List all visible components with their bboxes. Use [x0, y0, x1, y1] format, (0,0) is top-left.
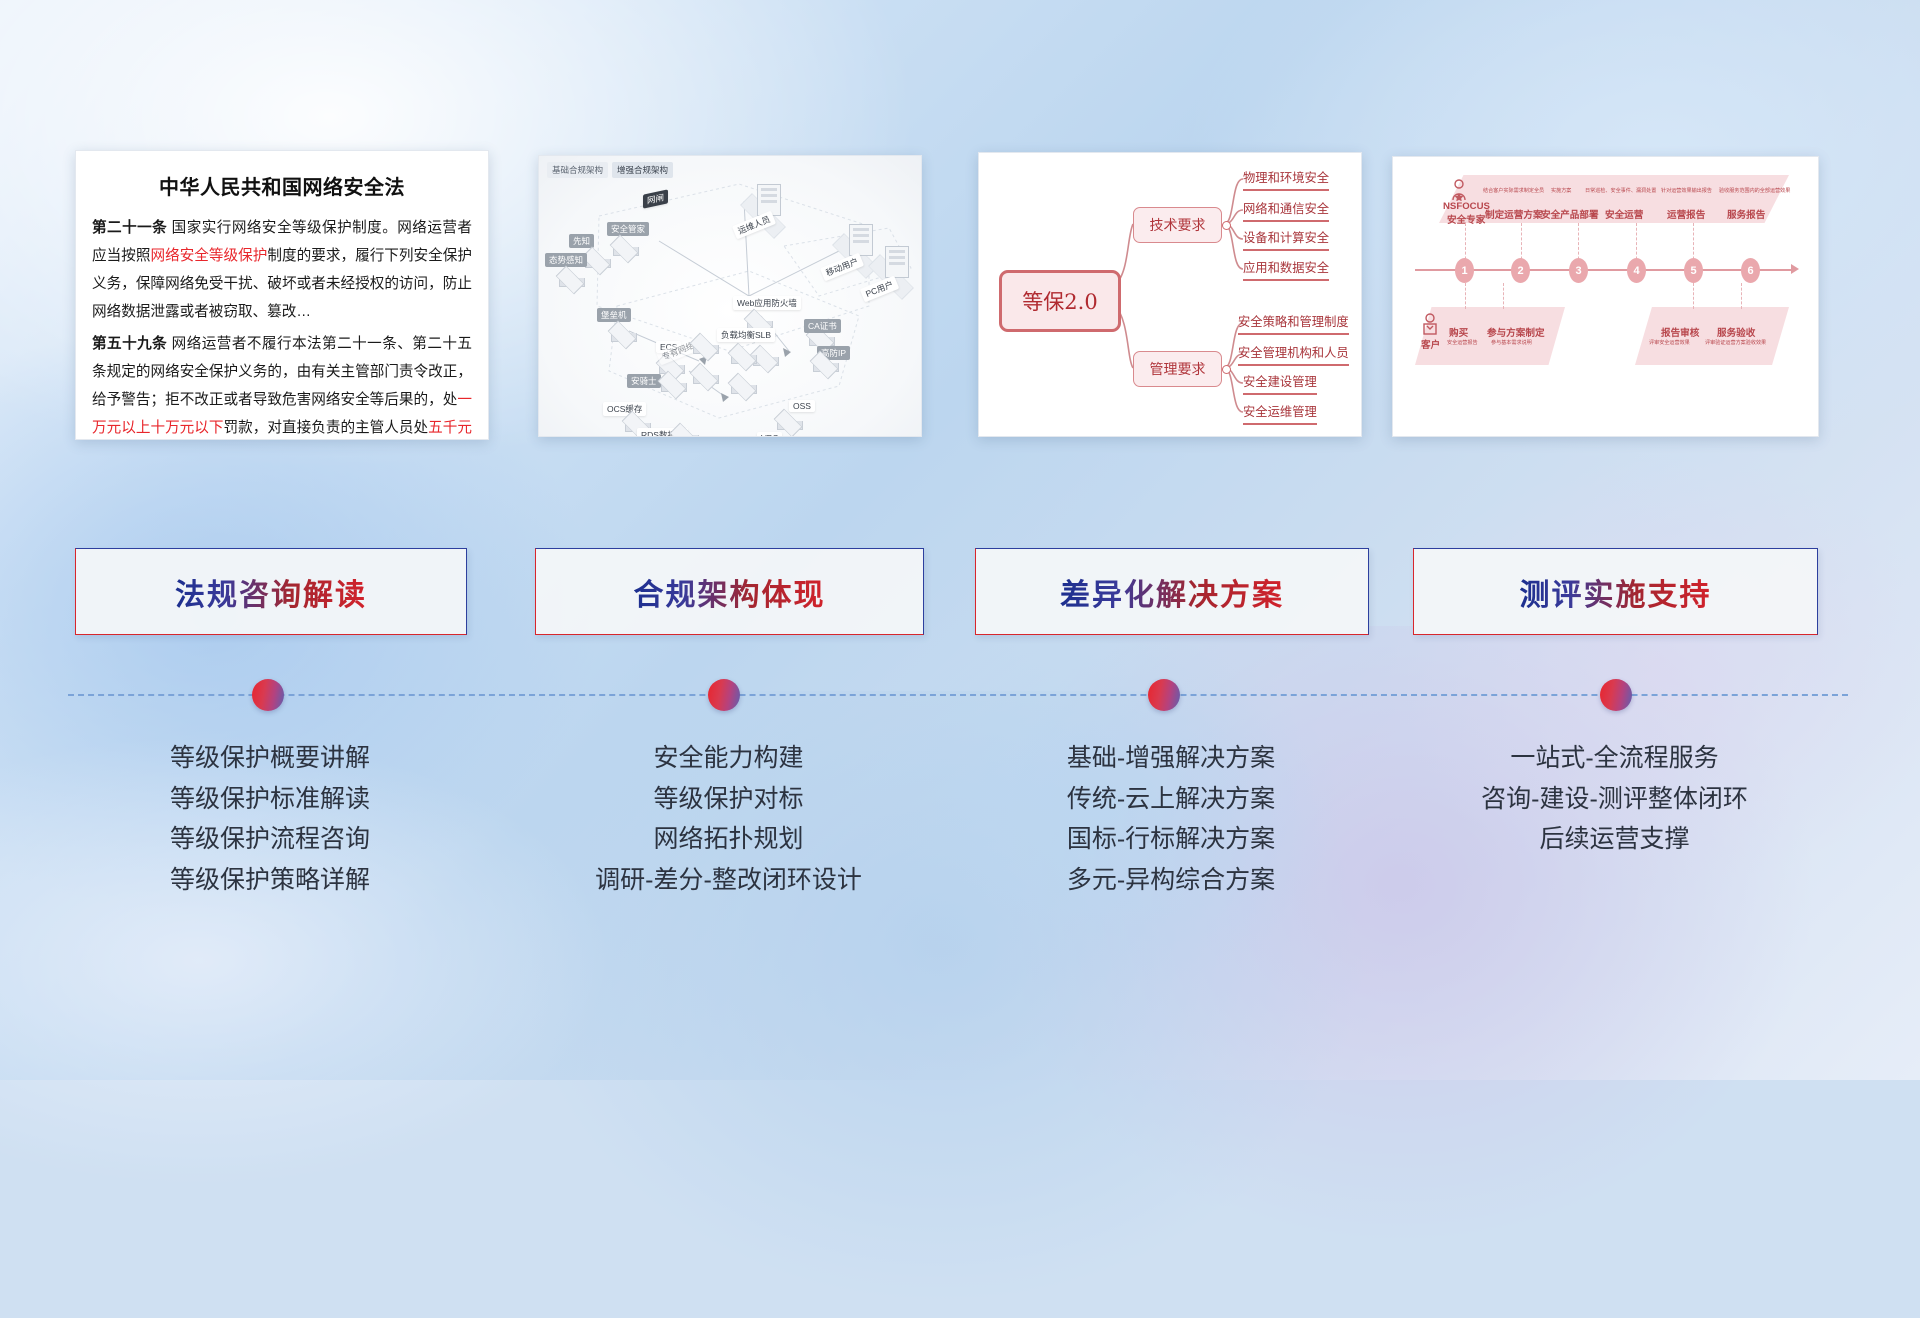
architecture-node-bastion: 堡垒机	[597, 308, 631, 322]
list-item: 等级保护对标	[535, 779, 922, 820]
architecture-icon-anti-ddos	[811, 352, 845, 378]
customer-step-3-sub: 评审安全运营效果	[1649, 339, 1690, 346]
pillar-box-2[interactable]: 合规架构体现	[535, 548, 924, 635]
nsfocus-step-6: 6	[1741, 258, 1760, 283]
pillar-list-1: 等级保护概要讲解 等级保护标准解读 等级保护流程咨询 等级保护策略详解	[75, 738, 465, 900]
expert-step-2-title: 安全产品部署	[1541, 207, 1599, 221]
architecture-icon-cluster-a	[691, 334, 725, 360]
architecture-icon-rds	[671, 424, 705, 437]
pillar-title-4: 测评实施支持	[1520, 570, 1712, 614]
list-item: 调研-差分-整改闭环设计	[535, 860, 922, 901]
pillar-title-3: 差异化解决方案	[1060, 570, 1284, 614]
nsfocus-step-5: 5	[1684, 258, 1703, 283]
expert-step-2-sub: 实施方案	[1551, 187, 1571, 194]
card-architecture-diagram[interactable]: 基础合规架构 增强合规架构	[538, 155, 922, 437]
pillar-list-4: 一站式-全流程服务 咨询-建设-测评整体闭环 后续运营支撑	[1413, 738, 1816, 860]
mindmap-collapse-dot-technical[interactable]	[1222, 221, 1231, 230]
list-item: 等级保护流程咨询	[75, 819, 465, 860]
customer-step-4-sub: 评审验证运营方案验收效果	[1705, 339, 1766, 346]
law-article-59: 第五十九条 网络运营者不履行本法第二十一条、第二十五条规定的网络安全保护义务的，…	[92, 330, 472, 440]
list-item: 等级保护策略详解	[75, 860, 465, 901]
nsfocus-axis-arrow	[1791, 264, 1799, 274]
mindmap-root: 等保2.0	[999, 270, 1121, 332]
law-article-59-text-b: 罚款，对直接负责的主管人员处	[224, 420, 429, 436]
list-item: 多元-异构综合方案	[975, 860, 1367, 901]
architecture-icon-cluster-b	[729, 344, 763, 370]
timeline-dot-4[interactable]	[1600, 679, 1632, 711]
mindmap-leaf-org-personnel: 安全管理机构和人员	[1238, 343, 1349, 366]
list-item: 网络拓扑规划	[535, 819, 922, 860]
law-article-21-highlight: 网络安全等级保护	[150, 248, 267, 264]
nsfocus-step-3: 3	[1569, 258, 1588, 283]
nsfocus-step-4: 4	[1627, 258, 1646, 283]
mindmap-leaf-network-comm: 网络和通信安全	[1243, 199, 1329, 222]
law-title: 中华人民共和国网络安全法	[92, 171, 472, 200]
list-item: 传统-云上解决方案	[975, 779, 1367, 820]
customer-connector-4	[1741, 283, 1743, 309]
expert-step-4-title: 运营报告	[1667, 207, 1705, 221]
nsfocus-step-1: 1	[1455, 258, 1474, 283]
architecture-canvas: 基础合规架构 增强合规架构	[539, 156, 921, 436]
pillar-box-3[interactable]: 差异化解决方案	[975, 548, 1369, 635]
customer-person-icon	[1421, 313, 1439, 335]
pillar-title-1: 法规咨询解读	[175, 570, 367, 614]
mindmap-canvas: 等保2.0 技术要求 物理和环境安全 网络和通信安全 设备和计算安全 应用和数据…	[979, 153, 1361, 436]
pillar-box-1[interactable]: 法规咨询解读	[75, 548, 467, 635]
mindmap-leaf-physical-env: 物理和环境安全	[1243, 168, 1329, 191]
customer-step-2-sub: 参与基本需求说明	[1491, 339, 1532, 346]
expert-step-4-sub: 针对运营效果输出报告	[1661, 187, 1712, 194]
expert-person-icon	[1449, 179, 1469, 201]
mindmap-leaf-policy-system: 安全策略和管理制度	[1238, 312, 1349, 335]
pillar-box-4[interactable]: 测评实施支持	[1413, 548, 1818, 635]
timeline-dot-2[interactable]	[708, 679, 740, 711]
slide-stage: 中华人民共和国网络安全法 第二十一条 国家实行网络安全等级保护制度。网络运营者应…	[0, 0, 1920, 1080]
card-mindmap[interactable]: 等保2.0 技术要求 物理和环境安全 网络和通信安全 设备和计算安全 应用和数据…	[978, 152, 1362, 437]
customer-step-3-title: 报告审核	[1661, 325, 1699, 339]
architecture-node-anqishi: 安骑士	[627, 374, 661, 388]
customer-connector-2	[1503, 283, 1505, 309]
architecture-icon-pc-user	[885, 246, 909, 278]
customer-connector-1	[1465, 283, 1467, 309]
mindmap-leaf-app-data: 应用和数据安全	[1243, 258, 1329, 281]
architecture-icon-anqishi	[659, 372, 693, 398]
nsfocus-customer-band-right	[1635, 307, 1789, 365]
architecture-icon-cluster-d	[729, 374, 763, 400]
customer-label: 客户	[1421, 337, 1440, 351]
expert-step-5-title: 服务报告	[1727, 207, 1765, 221]
architecture-node-waf: Web应用防火墙	[733, 296, 801, 310]
mindmap-collapse-dot-management[interactable]	[1222, 365, 1231, 374]
customer-step-4-title: 服务验收	[1717, 325, 1755, 339]
expert-step-3-title: 安全运营	[1605, 207, 1643, 221]
expert-step-3-sub: 日常巡检、安全事件、漏洞处置	[1585, 187, 1656, 194]
architecture-node-vpc: VPC	[757, 432, 782, 437]
architecture-node-ca: CA证书	[804, 319, 841, 333]
mindmap-leaf-ops-mgmt: 安全运维管理	[1243, 402, 1317, 425]
nsfocus-step-2: 2	[1511, 258, 1530, 283]
mindmap-leaf-construction-mgmt: 安全建设管理	[1243, 372, 1317, 395]
architecture-icon-mobile-user	[849, 224, 873, 256]
architecture-node-slb: 负载均衡SLB	[717, 328, 775, 342]
card-nsfocus-timeline[interactable]: NSFOCUS 安全专家 结合客户实际需求制定全员 制定运营方案 实施方案 安全…	[1392, 156, 1819, 437]
customer-step-1-title: 购买	[1449, 325, 1468, 339]
law-article-21: 第二十一条 国家实行网络安全等级保护制度。网络运营者应当按照网络安全等级保护制度…	[92, 214, 472, 326]
timeline-dot-1[interactable]	[252, 679, 284, 711]
pillar-list-3: 基础-增强解决方案 传统-云上解决方案 国标-行标解决方案 多元-异构综合方案	[975, 738, 1367, 900]
architecture-icon-cluster-c	[691, 364, 725, 390]
law-article-59-label: 第五十九条	[92, 336, 167, 352]
list-item: 等级保护概要讲解	[75, 738, 465, 779]
nsfocus-brand: NSFOCUS	[1443, 201, 1490, 212]
list-item: 咨询-建设-测评整体闭环	[1413, 779, 1816, 820]
architecture-node-xianzhi: 先知	[569, 234, 594, 248]
card-law-document[interactable]: 中华人民共和国网络安全法 第二十一条 国家实行网络安全等级保护制度。网络运营者应…	[75, 150, 489, 440]
timeline-dashed-line	[68, 694, 1848, 696]
expert-step-1-title: 制定运营方案	[1485, 207, 1543, 221]
list-item: 后续运营支撑	[1413, 819, 1816, 860]
law-body: 中华人民共和国网络安全法 第二十一条 国家实行网络安全等级保护制度。网络运营者应…	[76, 151, 488, 439]
mindmap-leaf-device-compute: 设备和计算安全	[1243, 228, 1329, 251]
architecture-icon-situation-awareness	[557, 267, 591, 293]
list-item: 一站式-全流程服务	[1413, 738, 1816, 779]
architecture-icon-bastion	[609, 322, 643, 348]
expert-step-1-sub: 结合客户实际需求制定全员	[1483, 187, 1544, 194]
mindmap-branch-management: 管理要求	[1133, 351, 1222, 387]
pillar-list-2: 安全能力构建 等级保护对标 网络拓扑规划 调研-差分-整改闭环设计	[535, 738, 922, 900]
timeline-dot-3[interactable]	[1148, 679, 1180, 711]
law-article-21-label: 第二十一条	[92, 220, 167, 236]
customer-step-2-title: 参与方案制定	[1487, 325, 1545, 339]
list-item: 国标-行标解决方案	[975, 819, 1367, 860]
nsfocus-canvas: NSFOCUS 安全专家 结合客户实际需求制定全员 制定运营方案 实施方案 安全…	[1393, 157, 1818, 436]
expert-step-5-sub: 验收服务范围内的全部运营效果	[1719, 187, 1790, 194]
list-item: 基础-增强解决方案	[975, 738, 1367, 779]
customer-connector-3	[1693, 283, 1695, 309]
pillar-title-2: 合规架构体现	[634, 570, 826, 614]
mindmap-branch-technical: 技术要求	[1133, 207, 1222, 243]
architecture-node-security-butler: 安全管家	[607, 222, 649, 236]
list-item: 等级保护标准解读	[75, 779, 465, 820]
customer-step-1-sub: 安全运营报告	[1447, 339, 1478, 346]
list-item: 安全能力构建	[535, 738, 922, 779]
